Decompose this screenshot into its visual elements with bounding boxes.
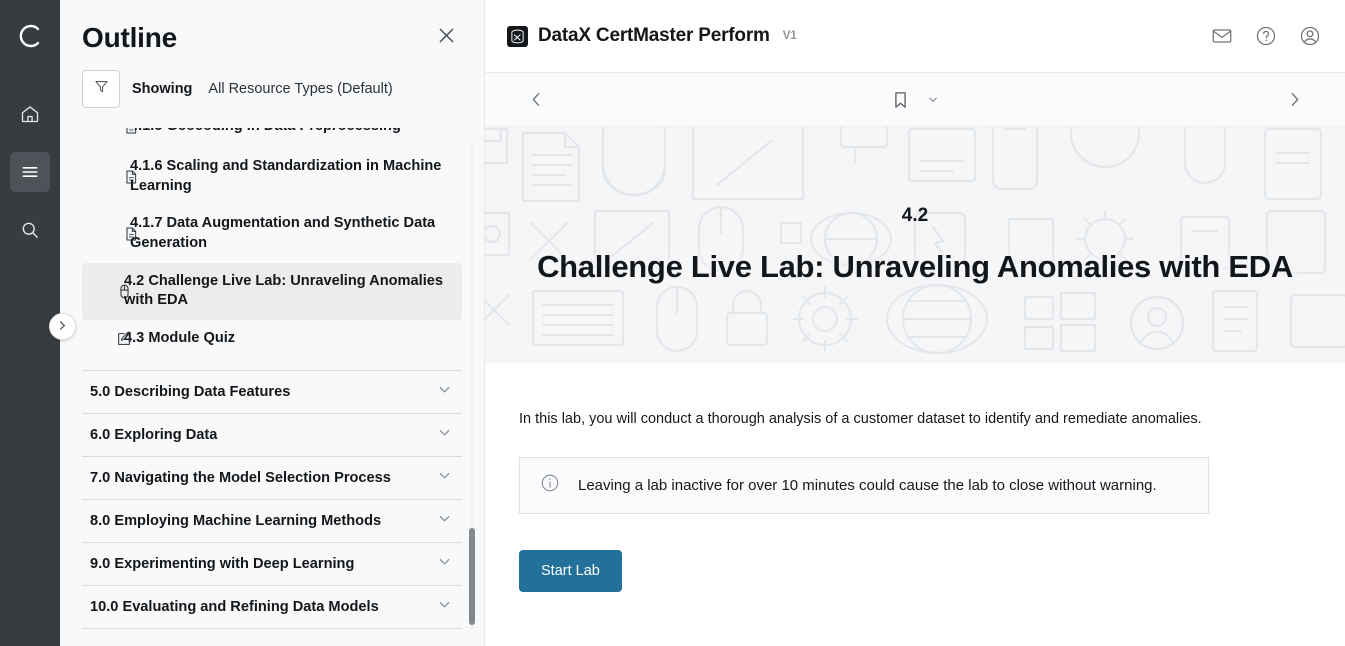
list-item[interactable]: 4.1.6 Scaling and Standardization in Mac… <box>82 148 462 205</box>
list-item-label: 4.2 Challenge Live Lab: Unraveling Anoma… <box>124 272 450 311</box>
module-label: 7.0 Navigating the Model Selection Proce… <box>90 470 391 486</box>
list-item-label: 4.1.7 Data Augmentation and Synthetic Da… <box>130 214 450 253</box>
list-item-selected[interactable]: 4.2 Challenge Live Lab: Unraveling Anoma… <box>82 263 462 320</box>
home-icon <box>20 104 40 124</box>
chevron-down-icon <box>437 511 452 531</box>
module-row[interactable]: 5.0 Describing Data Features <box>82 370 462 413</box>
start-lab-button[interactable]: Start Lab <box>519 550 622 592</box>
search-icon <box>20 220 40 240</box>
chevron-down-icon <box>437 382 452 402</box>
list-item-label: 4.1.5 Geocoding in Data Preprocessing <box>130 128 401 137</box>
outline-list-viewport: 4.1.5 Geocoding in Data Preprocessing 4.… <box>60 128 484 646</box>
help-circle-icon[interactable] <box>1253 23 1279 49</box>
filter-button[interactable] <box>82 70 120 108</box>
module-label: 6.0 Exploring Data <box>90 427 217 443</box>
list-item[interactable]: 4.1.5 Geocoding in Data Preprocessing <box>82 128 462 148</box>
previous-page-button[interactable] <box>523 87 549 113</box>
module-row[interactable]: 9.0 Experimenting with Deep Learning <box>82 542 462 585</box>
left-icon-rail <box>0 0 60 646</box>
chevron-down-icon <box>437 425 452 445</box>
module-row[interactable]: 7.0 Navigating the Model Selection Proce… <box>82 456 462 499</box>
c-logo-icon[interactable] <box>8 14 52 58</box>
module-row[interactable]: 6.0 Exploring Data <box>82 413 462 456</box>
rail-item-home[interactable] <box>10 94 50 134</box>
rail-item-search[interactable] <box>10 210 50 250</box>
outline-header: Outline <box>60 0 484 62</box>
app-root: Outline Showing All Resource T <box>0 0 1345 646</box>
document-icon <box>122 128 140 136</box>
version-badge: V1 <box>783 30 797 42</box>
chevron-right-icon <box>57 318 68 336</box>
lesson-number: 4.2 <box>902 205 928 227</box>
datax-logo-icon <box>507 26 528 47</box>
next-page-button[interactable] <box>1281 87 1307 113</box>
bookmark-dropdown-chevron-down-icon[interactable] <box>927 93 940 106</box>
page-title: Outline <box>82 22 177 54</box>
panel-toggle-button[interactable] <box>49 313 76 340</box>
document-icon <box>122 168 140 186</box>
notice-text: Leaving a lab inactive for over 10 minut… <box>578 477 1157 494</box>
quiz-pencil-icon <box>115 330 133 348</box>
module-row[interactable]: 10.0 Evaluating and Refining Data Models <box>82 585 462 629</box>
rail-item-outline[interactable] <box>10 152 50 192</box>
showing-label: Showing <box>132 81 192 97</box>
info-circle-icon <box>540 473 560 498</box>
mail-icon[interactable] <box>1209 23 1235 49</box>
lab-mouse-icon <box>115 282 133 300</box>
list-item[interactable]: 4.3 Module Quiz <box>82 320 462 358</box>
brand-name: DataX CertMaster Perform <box>538 25 770 47</box>
outline-scrollbar-thumb[interactable] <box>469 528 475 625</box>
lab-intro-text: In this lab, you will conduct a thorough… <box>485 411 1345 427</box>
lesson-nav-bar <box>485 73 1345 127</box>
tech-icons-pattern <box>485 127 1345 363</box>
main-content: DataX CertMaster Perform V1 <box>485 0 1345 646</box>
list-item-label: 4.3 Module Quiz <box>124 329 235 349</box>
brand: DataX CertMaster Perform V1 <box>507 25 797 47</box>
lab-inactivity-notice: Leaving a lab inactive for over 10 minut… <box>519 457 1209 514</box>
lesson-hero-banner: 4.2 Challenge Live Lab: Unraveling Anoma… <box>485 127 1345 363</box>
close-outline-button[interactable] <box>432 24 460 52</box>
lesson-title: Challenge Live Lab: Unraveling Anomalies… <box>537 249 1293 285</box>
account-circle-icon[interactable] <box>1297 23 1323 49</box>
chevron-down-icon <box>437 468 452 488</box>
module-label: 9.0 Experimenting with Deep Learning <box>90 556 354 572</box>
module-label: 5.0 Describing Data Features <box>90 384 290 400</box>
top-actions <box>1209 23 1323 49</box>
menu-icon <box>20 162 40 182</box>
bookmark-controls <box>891 90 940 110</box>
document-icon <box>122 225 140 243</box>
filter-icon <box>93 78 110 100</box>
showing-value[interactable]: All Resource Types (Default) <box>208 81 392 97</box>
filter-row: Showing All Resource Types (Default) <box>60 62 484 108</box>
list-item-label: 4.1.6 Scaling and Standardization in Mac… <box>130 157 450 196</box>
bookmark-icon[interactable] <box>891 90 911 110</box>
module-label: 8.0 Employing Machine Learning Methods <box>90 513 381 529</box>
top-app-bar: DataX CertMaster Perform V1 <box>485 0 1345 73</box>
chevron-down-icon <box>437 554 452 574</box>
lesson-body: In this lab, you will conduct a thorough… <box>485 363 1345 646</box>
outline-panel: Outline Showing All Resource T <box>60 0 485 646</box>
divider <box>82 358 462 370</box>
close-icon <box>436 25 457 51</box>
module-row[interactable]: 8.0 Employing Machine Learning Methods <box>82 499 462 542</box>
chevron-down-icon <box>437 597 452 617</box>
module-label: 10.0 Evaluating and Refining Data Models <box>90 599 379 615</box>
outline-list: 4.1.5 Geocoding in Data Preprocessing 4.… <box>60 128 484 629</box>
list-item[interactable]: 4.1.7 Data Augmentation and Synthetic Da… <box>82 205 462 262</box>
